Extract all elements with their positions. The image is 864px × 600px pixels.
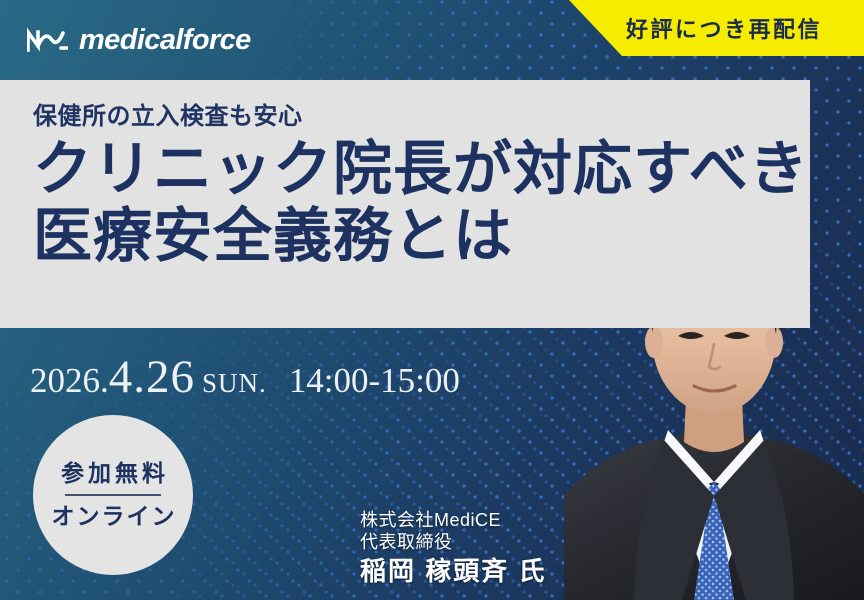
headline-line-1: クリニック院長が対応すべき [33, 136, 810, 203]
medicalforce-wave-m-icon [27, 27, 68, 55]
brand-logo[interactable]: medicalforce [27, 26, 251, 55]
schedule-day-of-week: SUN. [202, 368, 267, 399]
free-online-badge: 参加無料 オンライン [33, 415, 193, 575]
headline-kicker: 保健所の立入検査も安心 [33, 104, 810, 130]
badge-online-label: オンライン [50, 505, 177, 528]
ribbon-label: 好評につき再配信 [602, 12, 822, 44]
schedule-time: 14:00-15:00 [289, 361, 460, 401]
speaker-company: 株式会社MediCE [360, 510, 546, 532]
schedule-year: 2026. [30, 361, 109, 401]
speaker-role: 代表取締役 [360, 532, 546, 554]
badge-divider [65, 494, 161, 496]
brand-name: medicalforce [79, 26, 251, 55]
speaker-name: 稲岡 稼頭斉 氏 [360, 556, 546, 588]
speaker-caption: 株式会社MediCE 代表取締役 稲岡 稼頭斉 氏 [360, 510, 546, 588]
schedule-month-day: 4.26 [109, 350, 195, 404]
webinar-banner: medicalforce 好評につき再配信 保健所の立入検査も安心 クリニック院… [0, 0, 864, 600]
badge-free-label: 参加無料 [57, 462, 169, 485]
schedule-line: 2026. 4.26 SUN. 14:00-15:00 [30, 350, 460, 404]
headline-panel: 保健所の立入検査も安心 クリニック院長が対応すべき 医療安全義務とは [0, 80, 810, 328]
headline-line-2: 医療安全義務とは [33, 203, 810, 270]
